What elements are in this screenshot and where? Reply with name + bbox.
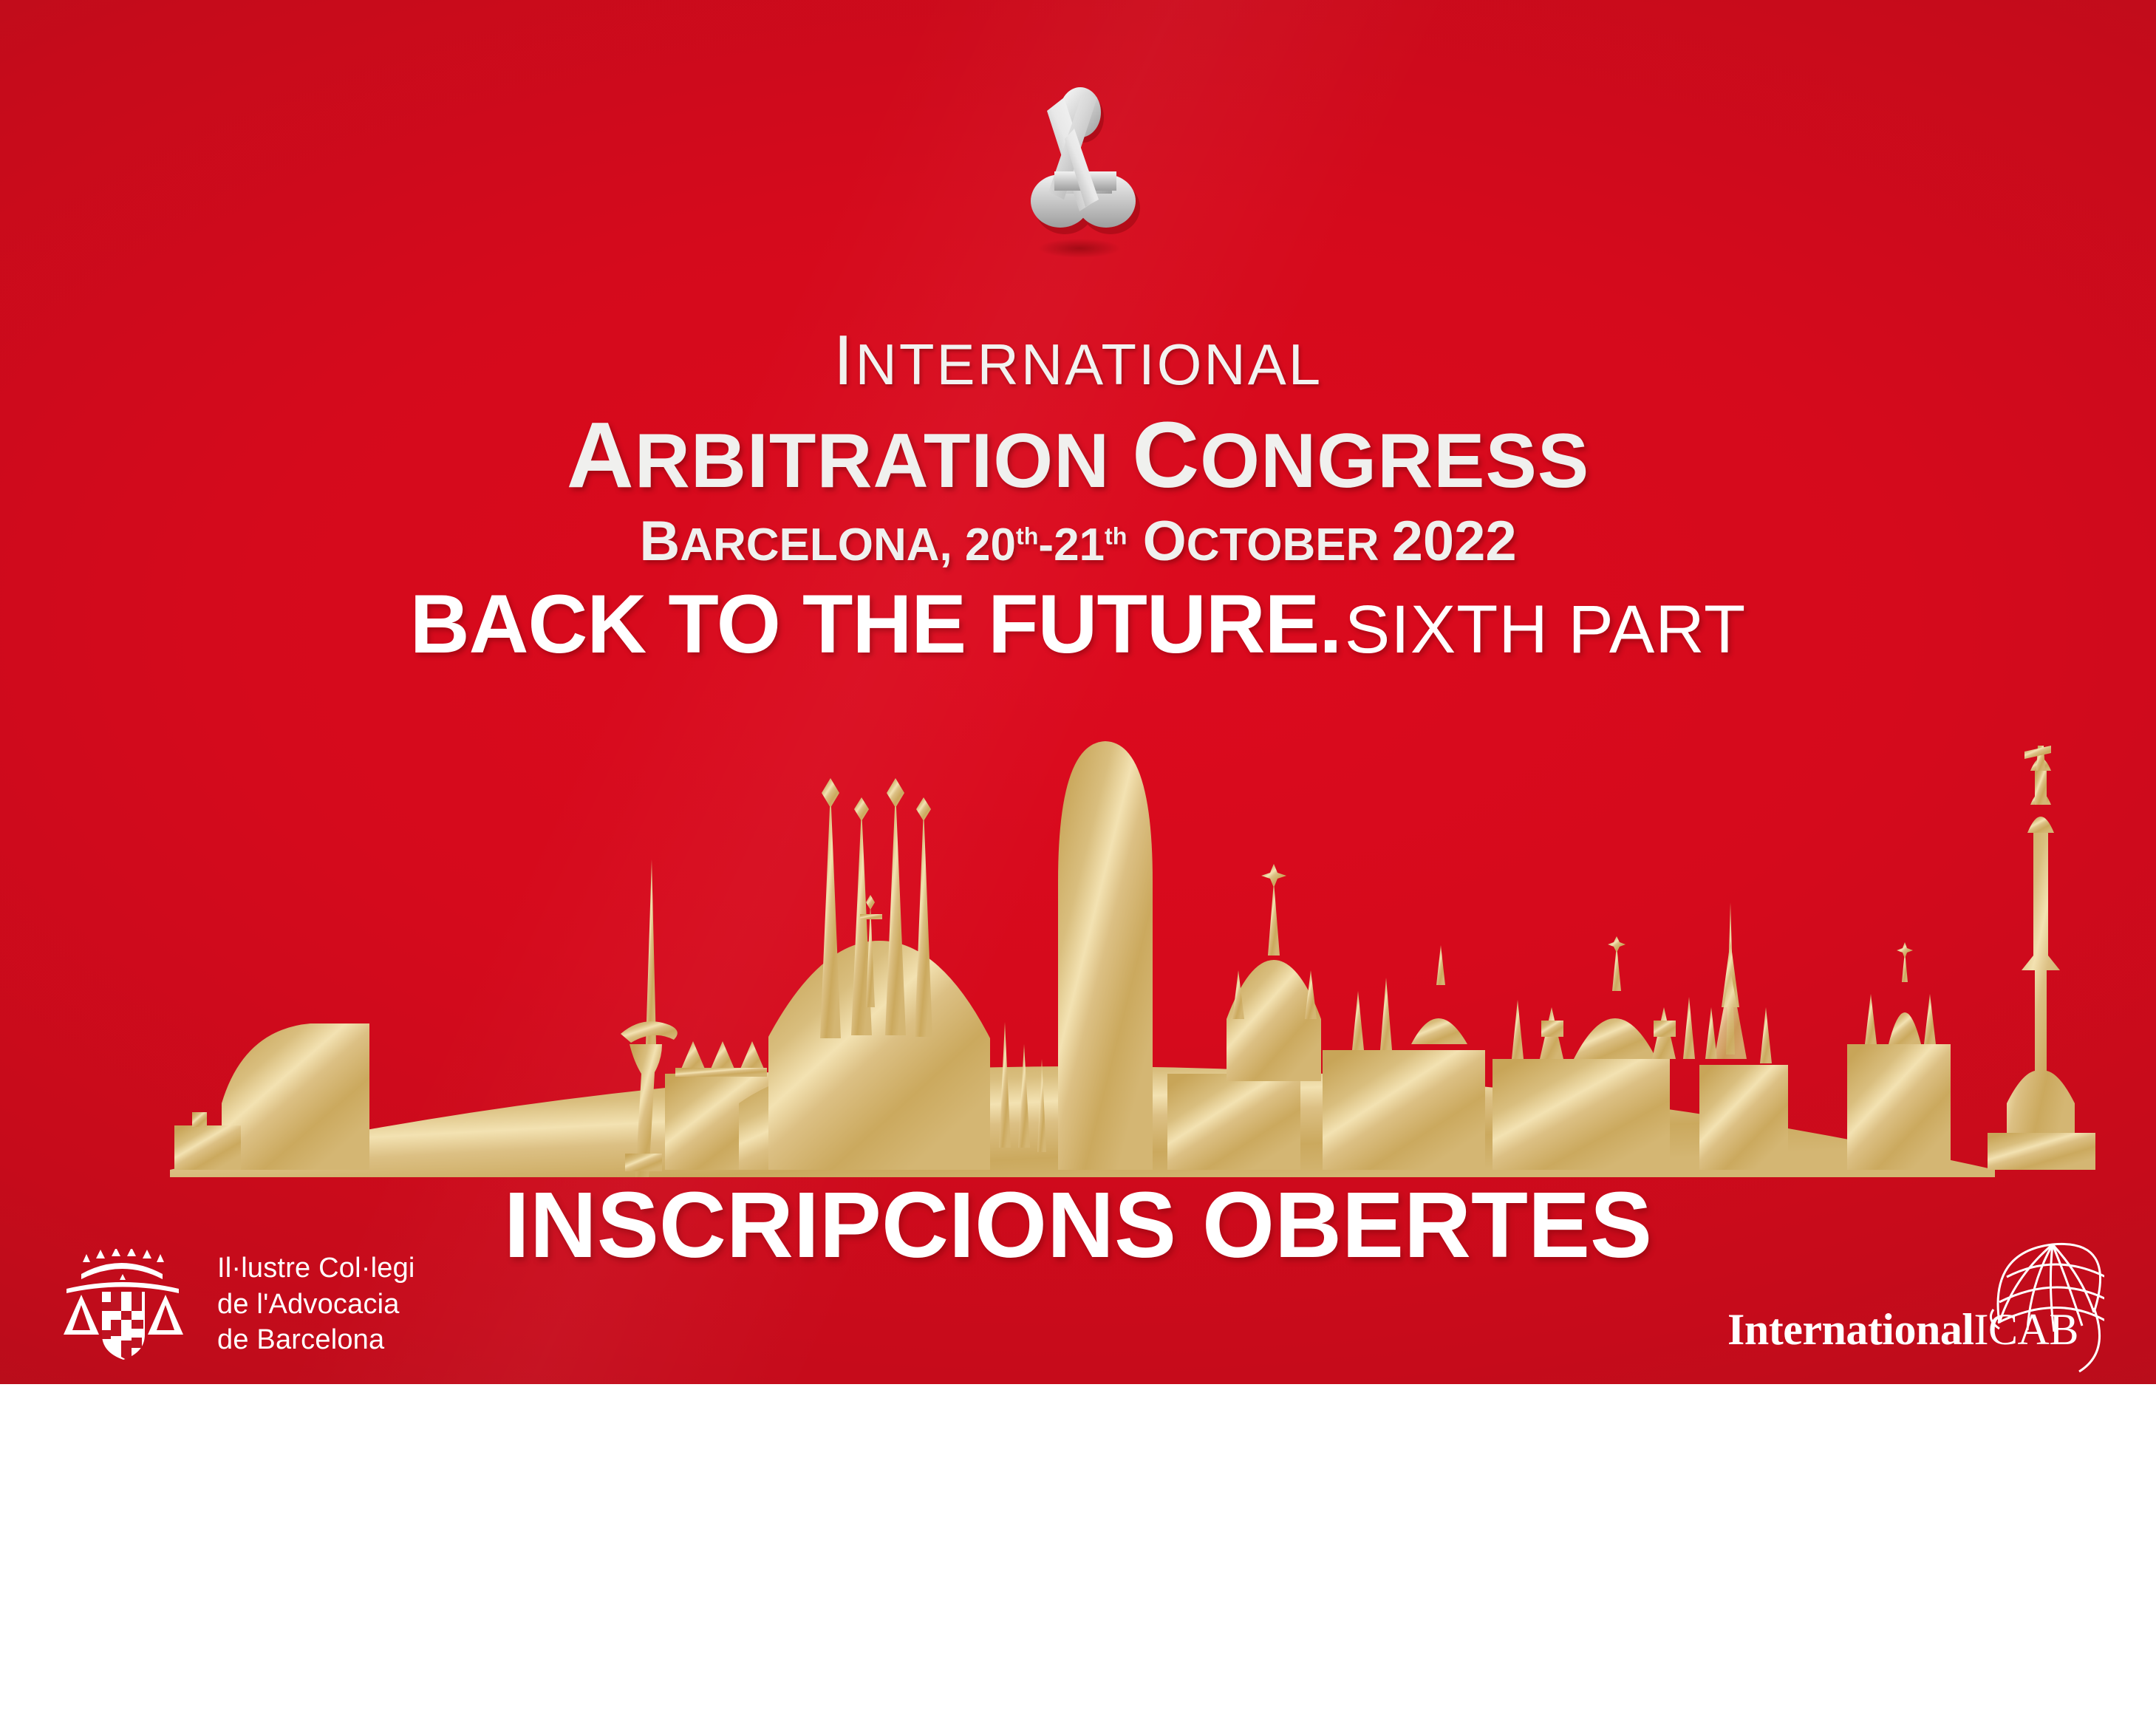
- date-sup-1: th: [1016, 522, 1038, 549]
- barcelona-skyline-silhouette-icon: [0, 660, 2156, 1177]
- intlicab-word-bold: International: [1727, 1305, 1974, 1354]
- date-cap-o: O: [1127, 510, 1186, 573]
- icab-scales-crest-icon: [58, 1249, 198, 1360]
- hero-panel: INTERNATIONAL ARBITRATION CONGRESS BARCE…: [0, 0, 2156, 1384]
- date-sup-2: th: [1105, 522, 1127, 549]
- icab-line-3: de Barcelona: [217, 1322, 415, 1358]
- international-icab-logo: InternationalICAB: [1720, 1236, 2104, 1383]
- date-year: 2022: [1392, 510, 1517, 573]
- date-month: CTOBER: [1187, 520, 1392, 570]
- icab-line-1: Il·lustre Col·legi: [217, 1250, 415, 1287]
- title-cap-a: A: [567, 403, 635, 507]
- date-dash: -: [1038, 520, 1054, 570]
- icab-logo: Il·lustre Col·legi de l'Advocacia de Bar…: [58, 1249, 415, 1360]
- tagline: BACK TO THE FUTURE. SIXTH PART: [0, 576, 2156, 672]
- icab-line-2: de l'Advocacia: [217, 1287, 415, 1323]
- title-rest-congress: ONGRESS: [1200, 418, 1589, 504]
- title-line-international: INTERNATIONAL: [0, 325, 2156, 396]
- title-line-date: BARCELONA, 20th-21th OCTOBER 2022: [0, 514, 2156, 570]
- poster-root: INTERNATIONAL ARBITRATION CONGRESS BARCE…: [0, 0, 2156, 1710]
- international-icab-wordmark: InternationalICAB: [1727, 1304, 2078, 1355]
- date-city: ARCELONA,: [680, 520, 965, 570]
- title-line-arbitration-congress: ARBITRATION CONGRESS: [0, 408, 2156, 503]
- triangular-a-monogram-icon: [967, 81, 1189, 303]
- tagline-light: SIXTH PART: [1345, 592, 1746, 667]
- title-rest-international: NTERNATIONAL: [856, 332, 1323, 397]
- tagline-bold: BACK TO THE FUTURE.: [410, 578, 1342, 670]
- title-rest-arbitration: RBITRATION: [635, 418, 1111, 504]
- date-cap-b: B: [639, 510, 680, 573]
- intlicab-word-thin: ICAB: [1974, 1305, 2078, 1354]
- date-day-1: 20: [965, 520, 1016, 570]
- date-day-2: 21: [1054, 520, 1105, 570]
- title-block: INTERNATIONAL ARBITRATION CONGRESS BARCE…: [0, 325, 2156, 570]
- title-cap-c: C: [1132, 403, 1200, 507]
- title-cap-i: I: [833, 321, 856, 400]
- footer-panel: Patrocinadors especials: Col·laboradors …: [0, 1384, 2156, 1710]
- icab-logo-text: Il·lustre Col·legi de l'Advocacia de Bar…: [217, 1250, 415, 1358]
